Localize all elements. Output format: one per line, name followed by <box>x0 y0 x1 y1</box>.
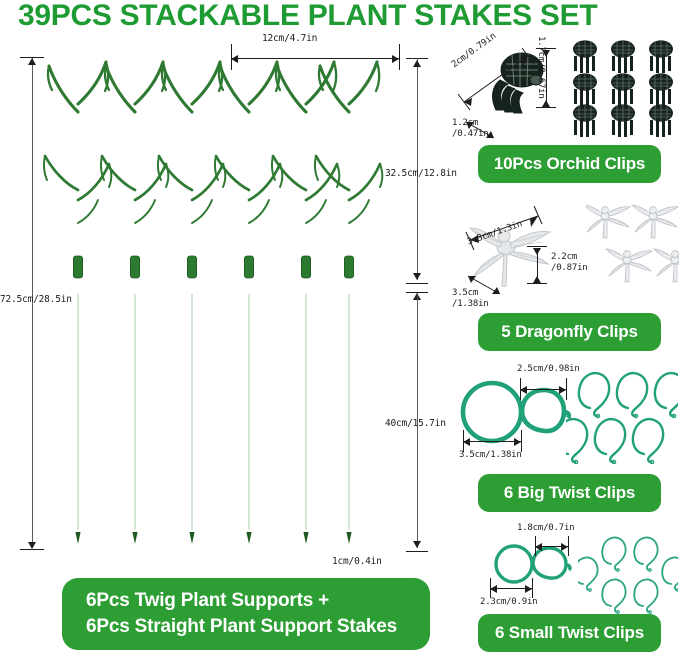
dragonfly-clip-grid <box>586 202 679 292</box>
small-twist-clips-label-text: 6 Small Twist Clips <box>495 623 644 643</box>
big-twist-clip-detail-illustration <box>452 374 572 454</box>
small-twist-big-right-cap <box>532 578 533 598</box>
orchid-height-arrow-bottom <box>542 100 550 107</box>
small-twist-big-arrow-right <box>525 585 532 593</box>
big-twist-big-arrow-right <box>514 438 521 446</box>
orchid-clip-grid <box>572 40 676 138</box>
dragonfly-height-label: 2.2cm /0.87in <box>551 252 588 274</box>
orchid-clips-label-pill: 10Pcs Orchid Clips <box>478 145 661 183</box>
dragonfly-depth-label: 3.5cm /1.38in <box>452 288 489 310</box>
straight-height-bottom-cap <box>406 551 428 552</box>
big-twist-small-arrow-right <box>559 386 566 394</box>
big-twist-big-arrow-left <box>463 438 470 446</box>
twig-height-divider <box>406 283 428 284</box>
small-twist-small-arrow-right <box>561 543 568 551</box>
twig-height-arrow-down <box>413 273 421 280</box>
orchid-height-bottom-cap <box>536 107 556 108</box>
big-twist-clips-label-pill: 6 Big Twist Clips <box>478 474 661 512</box>
small-twist-small-label: 1.8cm/0.7in <box>517 523 574 534</box>
infographic-canvas: 39PCS STACKABLE PLANT STAKES SET <box>0 0 679 659</box>
twig-height-arrow-up <box>413 60 421 67</box>
dragonfly-height-top-cap <box>527 246 547 247</box>
dragonfly-height-bottom-cap <box>527 283 547 284</box>
total-height-arrow-down <box>28 542 36 549</box>
page-title: 39PCS STACKABLE PLANT STAKES SET <box>18 0 668 34</box>
small-twist-clips-label-pill: 6 Small Twist Clips <box>478 614 661 652</box>
small-twist-clip-grid <box>578 534 678 620</box>
big-twist-big-right-cap <box>521 430 522 452</box>
orchid-depth-label: 1.2cm /0.47in <box>452 118 489 140</box>
twig-width-arrow-right <box>392 55 399 63</box>
total-height-arrow-up <box>28 58 36 65</box>
main-caption-line-1: 6Pcs Twig Plant Supports + <box>86 588 329 614</box>
small-twist-big-arrow-left <box>490 585 497 593</box>
dragonfly-height-arrow-bottom <box>533 276 541 283</box>
twig-stake-group <box>44 62 382 298</box>
dragonfly-clips-label-text: 5 Dragonfly Clips <box>501 322 637 342</box>
twig-width-rule <box>231 58 399 59</box>
twig-width-arrow-left <box>231 55 238 63</box>
big-twist-big-rule <box>463 441 521 442</box>
orchid-clips-label-text: 10Pcs Orchid Clips <box>494 154 645 174</box>
big-twist-clips-label-text: 6 Big Twist Clips <box>504 483 635 503</box>
straight-stake-group <box>75 290 351 544</box>
total-height-bottom-cap <box>20 549 44 550</box>
twig-height-label: 32.5cm/12.8in <box>385 168 457 179</box>
total-height-label: 72.5cm/28.5in <box>0 294 72 305</box>
big-twist-small-arrow-left <box>520 386 527 394</box>
big-twist-clip-grid <box>566 368 678 464</box>
small-twist-small-right-cap <box>568 536 569 556</box>
small-twist-big-label: 2.3cm/0.9in <box>480 597 537 608</box>
main-caption-line-2: 6Pcs Straight Plant Support Stakes <box>86 614 397 640</box>
orchid-height-rule <box>546 50 547 106</box>
twig-width-label: 12cm/4.7in <box>262 33 317 44</box>
straight-height-label: 40cm/15.7in <box>385 418 446 429</box>
main-caption-pill: 6Pcs Twig Plant Supports + 6Pcs Straight… <box>62 578 430 650</box>
orchid-height-label: 1.7cm/0.67in <box>535 36 546 99</box>
dragonfly-clips-label-pill: 5 Dragonfly Clips <box>478 313 661 351</box>
straight-height-arrow-down <box>413 541 421 548</box>
twig-width-right-cap <box>399 44 400 70</box>
plant-stakes-illustration <box>36 52 426 572</box>
big-twist-big-label: 3.5cm/1.38in <box>459 450 522 461</box>
small-twist-small-arrow-left <box>535 543 542 551</box>
stake-diameter-label: 1cm/0.4in <box>332 556 382 567</box>
